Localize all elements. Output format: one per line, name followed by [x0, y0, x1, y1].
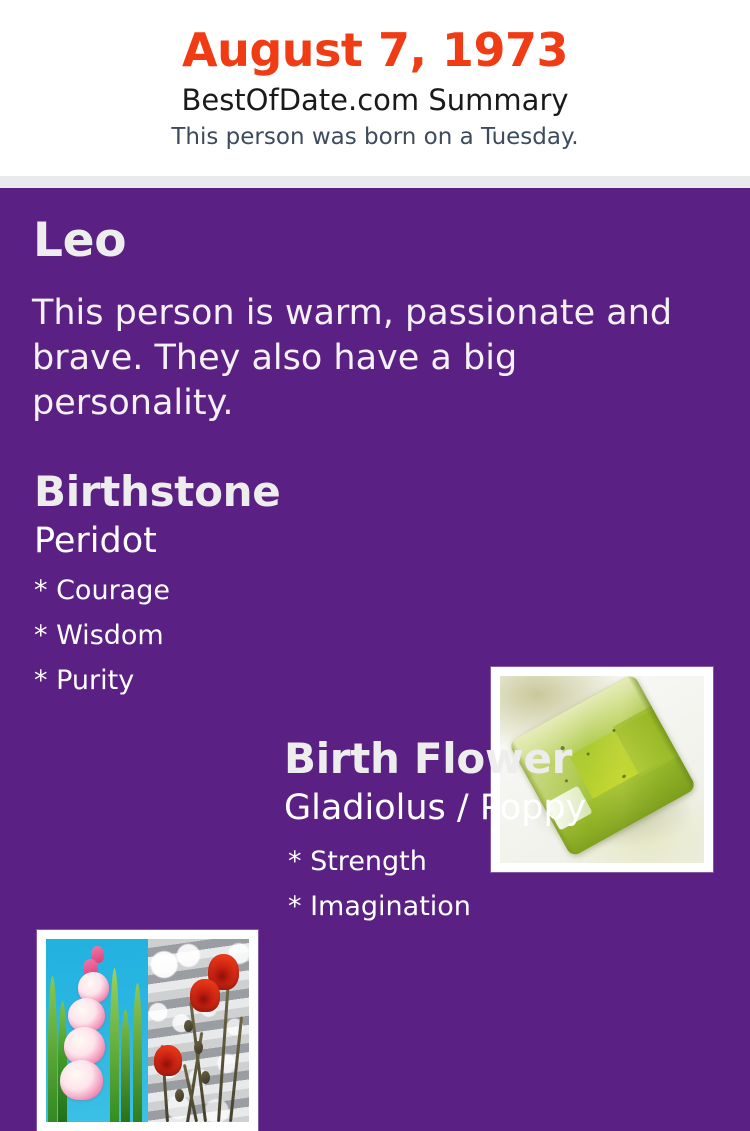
gladiolus-leaf: [48, 976, 57, 1122]
gladiolus-leaf: [133, 983, 142, 1122]
poppy-stem: [217, 987, 229, 1122]
zodiac-sign-heading: Leo: [33, 214, 126, 268]
poppy-seed-head: [175, 1089, 184, 1102]
birth-flower-section: Birth Flower Gladiolus / Poppy * Strengt…: [284, 733, 724, 929]
poppy-photo-half: [148, 939, 250, 1122]
poppy-bloom: [190, 979, 219, 1012]
weekday-note: This person was born on a Tuesday.: [0, 121, 750, 153]
poppy-seed-head: [201, 1071, 210, 1084]
header-divider: [0, 176, 750, 188]
birth-flower-image-frame: [37, 930, 258, 1131]
gladiolus-leaf: [110, 968, 119, 1122]
birth-flower-trait-list: * Strength * Imagination: [284, 839, 724, 929]
gladiolus-bloom: [60, 1060, 103, 1100]
birthstone-section: Birthstone Peridot * Courage * Wisdom * …: [34, 466, 474, 703]
summary-panel: Leo This person is warm, passionate and …: [0, 188, 750, 1000]
gladiolus-poppy-photo: [46, 939, 249, 1122]
zodiac-description: This person is warm, passionate and brav…: [32, 291, 692, 426]
birthstone-trait-list: * Courage * Wisdom * Purity: [34, 568, 474, 703]
list-item: * Courage: [34, 568, 474, 613]
gladiolus-photo-half: [46, 939, 148, 1122]
birth-flower-heading: Birth Flower: [284, 733, 724, 785]
gladiolus-leaf: [58, 1001, 67, 1122]
gladiolus-leaf: [121, 1009, 130, 1122]
list-item: * Strength: [288, 839, 724, 884]
poppy-seed-head: [194, 1041, 203, 1054]
poppy-bloom: [154, 1045, 182, 1076]
page-header: August 7, 1973 BestOfDate.com Summary Th…: [0, 0, 750, 176]
birthstone-heading: Birthstone: [34, 466, 474, 518]
list-item: * Imagination: [288, 884, 724, 929]
birth-flower-name: Gladiolus / Poppy: [284, 787, 724, 829]
birthstone-name: Peridot: [34, 520, 474, 562]
list-item: * Wisdom: [34, 613, 474, 658]
list-item: * Purity: [34, 658, 474, 703]
flower-diptych: [46, 939, 249, 1122]
page-title-date: August 7, 1973: [0, 22, 750, 78]
site-name-subtitle: BestOfDate.com Summary: [0, 80, 750, 120]
poppy-stem: [229, 1016, 243, 1122]
